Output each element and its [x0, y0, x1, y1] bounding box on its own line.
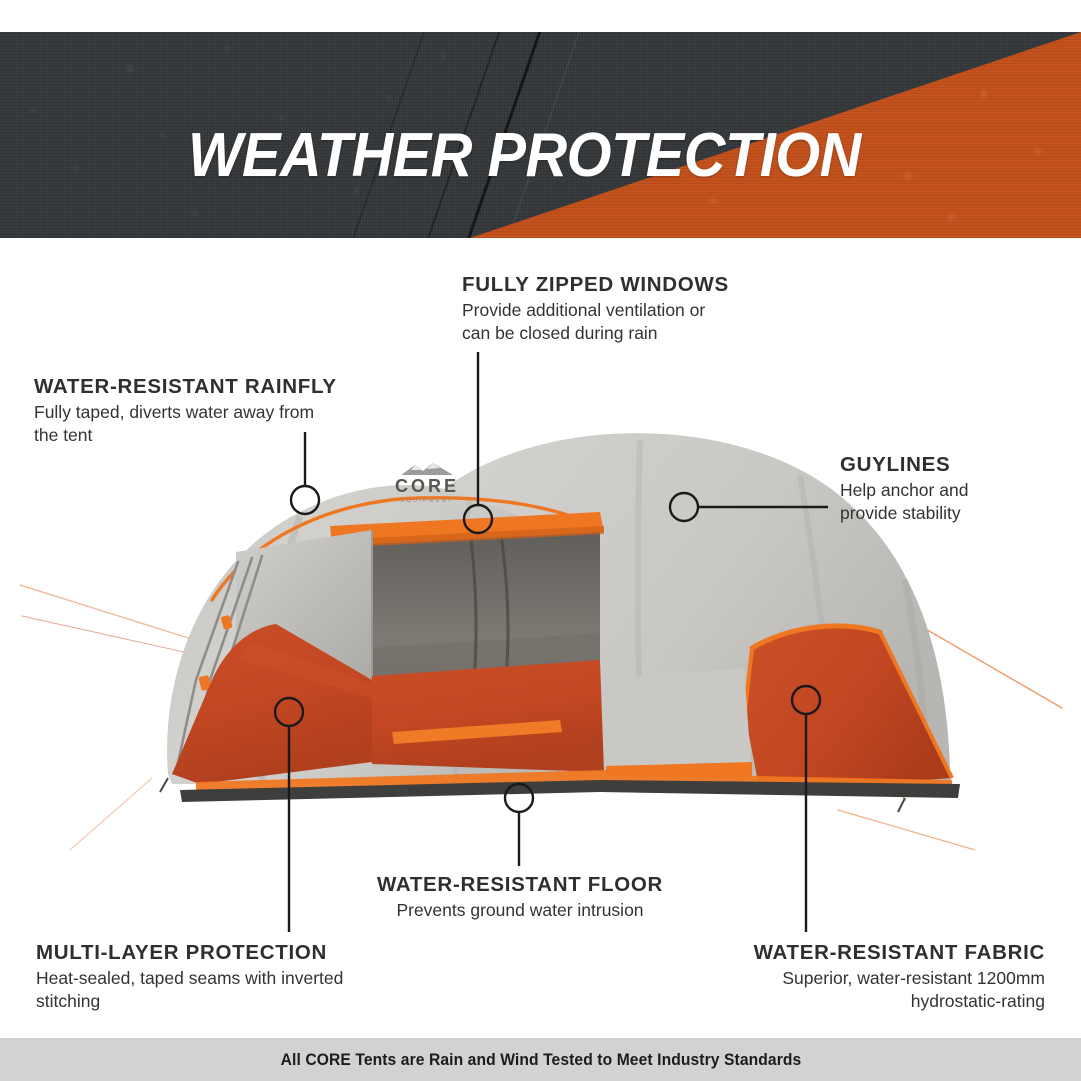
- core-logo-text: CORE: [372, 477, 482, 497]
- tent-body-center: [372, 660, 604, 772]
- callout-multi-layer-protection: MULTI-LAYER PROTECTION Heat-sealed, tape…: [36, 940, 343, 1014]
- guyline-left-stake: [70, 778, 152, 850]
- callout-water-resistant-fabric: WATER-RESISTANT FABRIC Superior, water-r…: [645, 940, 1045, 1014]
- footer-text: All CORE Tents are Rain and Wind Tested …: [280, 1050, 801, 1070]
- core-brand-logo: CORE EQUIPMENT: [372, 462, 482, 504]
- tent-right-flap: [604, 668, 752, 778]
- tent-illustration: [0, 380, 1081, 850]
- callout-title-rainfly: WATER-RESISTANT RAINFLY: [34, 374, 337, 399]
- page-title: WEATHER PROTECTION: [188, 125, 861, 187]
- callout-body-multilayer: Heat-sealed, taped seams with invertedst…: [36, 967, 343, 1014]
- callout-title-guylines: GUYLINES: [840, 452, 968, 477]
- callout-body-fabric: Superior, water-resistant 1200mmhydrosta…: [645, 967, 1045, 1014]
- callout-body-windows: Provide additional ventilation orcan be …: [462, 299, 729, 346]
- callout-fully-zipped-windows: FULLY ZIPPED WINDOWS Provide additional …: [462, 272, 729, 346]
- infographic-page: WEATHER PROTECTION: [0, 0, 1081, 1081]
- callout-body-guylines: Help anchor andprovide stability: [840, 479, 968, 526]
- core-logo-subtext: EQUIPMENT: [372, 498, 482, 504]
- callout-body-rainfly: Fully taped, diverts water away fromthe …: [34, 401, 337, 448]
- callout-water-resistant-floor: WATER-RESISTANT FLOOR Prevents ground wa…: [334, 872, 706, 922]
- callout-body-floor: Prevents ground water intrusion: [334, 899, 706, 922]
- mountain-icon: [399, 462, 455, 476]
- callout-title-floor: WATER-RESISTANT FLOOR: [334, 872, 706, 897]
- guyline-right-ground: [838, 810, 975, 850]
- callout-title-fabric: WATER-RESISTANT FABRIC: [645, 940, 1045, 965]
- callout-title-multilayer: MULTI-LAYER PROTECTION: [36, 940, 343, 965]
- footer-bar: All CORE Tents are Rain and Wind Tested …: [0, 1038, 1081, 1081]
- header-banner: WEATHER PROTECTION: [0, 32, 1081, 238]
- callout-water-resistant-rainfly: WATER-RESISTANT RAINFLY Fully taped, div…: [34, 374, 337, 448]
- callout-title-windows: FULLY ZIPPED WINDOWS: [462, 272, 729, 297]
- callout-guylines: GUYLINES Help anchor andprovide stabilit…: [840, 452, 968, 526]
